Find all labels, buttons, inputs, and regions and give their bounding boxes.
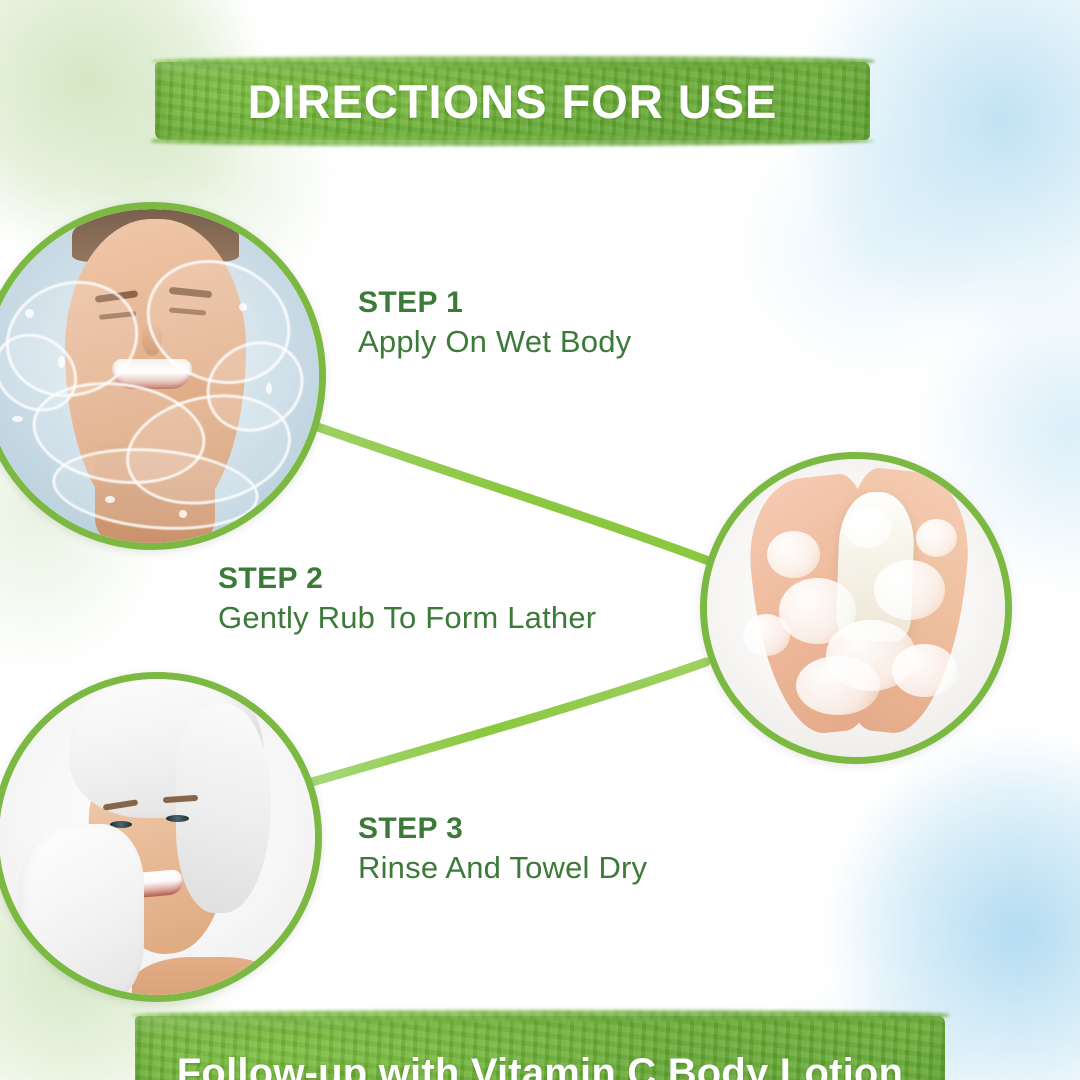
image-woman-splashing-water [0,209,319,543]
step-1-description: Apply On Wet Body [358,323,631,360]
step-2-image-circle [700,452,1012,764]
step-1-title: STEP 1 [358,286,631,320]
step-2-description: Gently Rub To Form Lather [218,599,596,636]
step-1-image-circle [0,202,326,550]
step-1-text: STEP 1 Apply On Wet Body [358,286,631,360]
footer-text: Follow-up with Vitamin C Body Lotion [177,1051,903,1080]
page-title: DIRECTIONS FOR USE [248,74,778,129]
step-2-title: STEP 2 [218,562,596,596]
step-2-text: STEP 2 Gently Rub To Form Lather [218,562,596,636]
connector-step2-to-step3 [312,662,706,782]
image-hands-lathering-soap [707,459,1005,757]
infographic-canvas: DIRECTIONS FOR USE [0,0,1080,1080]
step-3-description: Rinse And Towel Dry [358,849,647,886]
image-woman-towel-drying [0,679,315,995]
step-3-image-circle [0,672,322,1002]
header-banner: DIRECTIONS FOR USE [155,62,870,140]
connector-step1-to-step2 [312,425,706,560]
step-3-title: STEP 3 [358,812,647,846]
step-3-text: STEP 3 Rinse And Towel Dry [358,812,647,886]
footer-banner: Follow-up with Vitamin C Body Lotion [135,1016,945,1080]
